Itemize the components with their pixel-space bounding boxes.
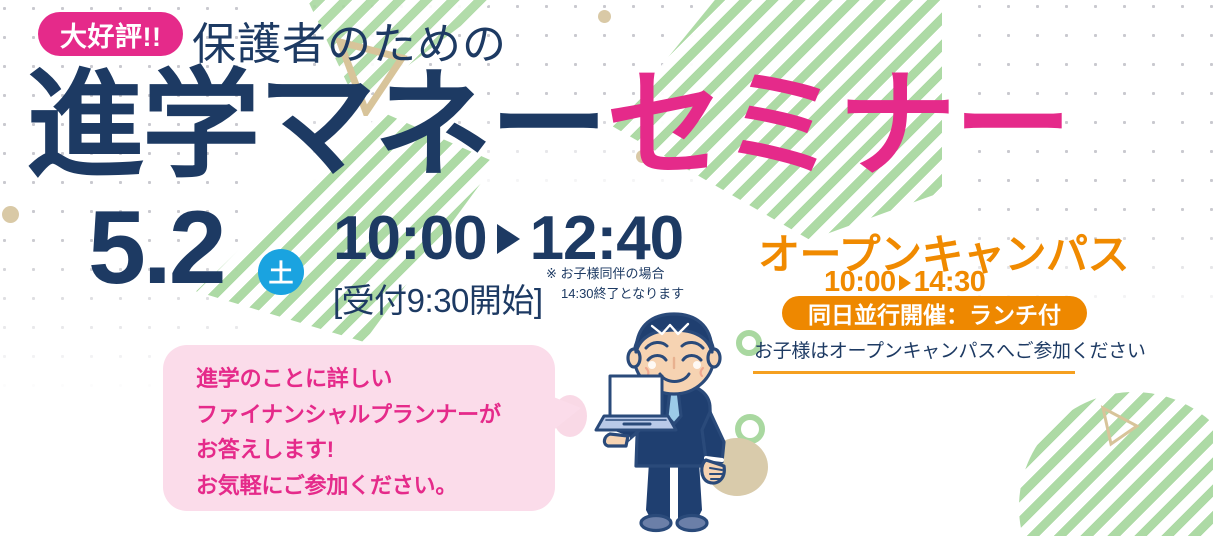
- open-campus-time-start: 10:00: [824, 266, 896, 299]
- tan-dot-left: [2, 206, 19, 223]
- tan-triangle-outline-bottomright: [1097, 404, 1141, 448]
- reception-time: [受付9:30開始]: [333, 274, 543, 322]
- open-campus-time: 10:0014:30: [824, 266, 985, 299]
- triangle-right-icon: [497, 224, 520, 254]
- saturday-circle-icon: 土: [258, 249, 304, 295]
- note-line-1: ※ お子様同伴の場合: [546, 266, 665, 281]
- speech-bubble-text: 進学のことに詳しい ファイナンシャルプランナーが お答えします! お気軽にご参加…: [196, 361, 501, 504]
- triangle-right-icon: [899, 275, 911, 291]
- bubble-line-4: お気軽にご参加ください。: [196, 468, 501, 504]
- open-campus-subtext: お子様はオープンキャンパスへご参加ください: [754, 336, 1146, 363]
- event-date: 5.2: [88, 196, 224, 300]
- orange-divider: [753, 371, 1075, 374]
- bubble-line-1: 進学のことに詳しい: [196, 361, 501, 397]
- event-time-start: 10:00: [333, 208, 487, 270]
- open-campus-pill-badge: 同日並行開催：ランチ付: [782, 296, 1087, 330]
- page-title: 進学マネーセミナー: [26, 60, 1070, 192]
- green-stripe-circle-bottomright: [1019, 392, 1213, 536]
- seminar-banner: 大好評!! 保護者のための 進学マネーセミナー 5.2 土 10:0012:40…: [0, 0, 1213, 536]
- businessman-with-laptop-icon: [566, 312, 781, 536]
- event-time-end: 12:40: [530, 208, 684, 270]
- popularity-badge: 大好評!!: [38, 12, 183, 56]
- note-line-2: 14:30終了となります: [546, 284, 684, 304]
- headline-part-pink: セミナー: [606, 60, 1070, 192]
- event-time: 10:0012:40: [333, 208, 683, 270]
- open-campus-time-end: 14:30: [914, 266, 986, 299]
- child-accompany-note: ※ お子様同伴の場合 14:30終了となります: [546, 264, 684, 303]
- headline-part-navy: 進学マネー: [26, 60, 606, 192]
- bubble-line-2: ファイナンシャルプランナーが: [196, 397, 501, 433]
- tan-dot-top: [598, 10, 611, 23]
- bubble-line-3: お答えします!: [196, 432, 501, 468]
